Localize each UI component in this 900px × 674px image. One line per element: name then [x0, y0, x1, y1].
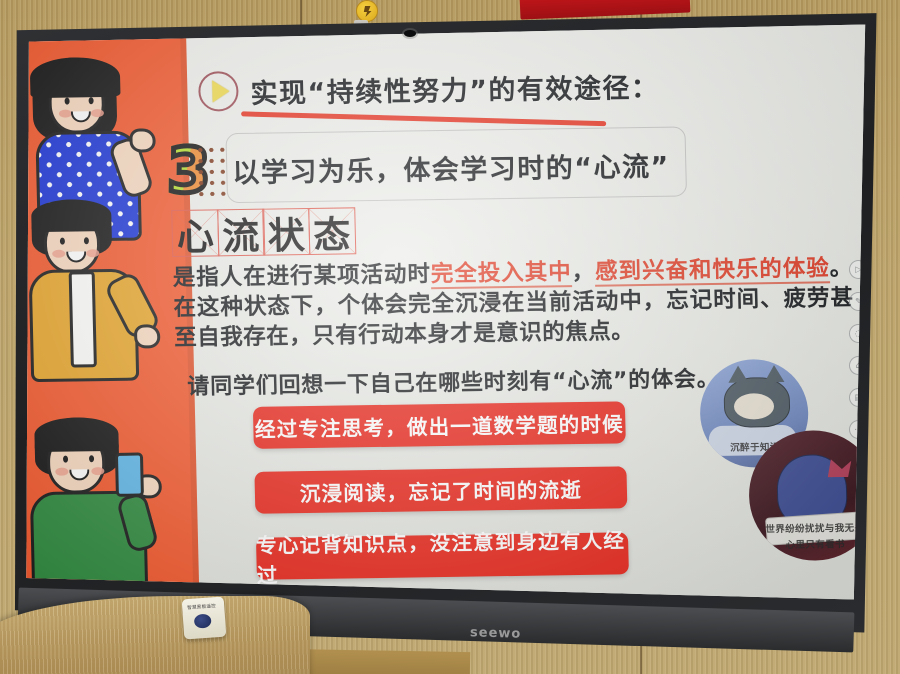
- wall-red-banner: [520, 0, 691, 20]
- flow-heading-char: 心: [171, 209, 219, 257]
- podium: [0, 596, 310, 674]
- section-heading: 以学习为乐，体会学习时的“心流”: [232, 145, 670, 190]
- smartboard-screen[interactable]: 实现“持续性努力”的有效途径： 3 以学习为乐，体会学习时的“心流” 心 流 状…: [8, 8, 880, 642]
- answer-box-2[interactable]: 沉浸阅读，忘记了时间的流逝: [254, 466, 627, 514]
- page-title: 实现“持续性努力”的有效途径：: [250, 65, 660, 110]
- remote-label: 智慧黑板遥控: [187, 603, 216, 611]
- flow-heading-char: 流: [217, 209, 265, 257]
- illustration-panel: [8, 12, 200, 642]
- title-underline: [241, 111, 606, 126]
- discussion-prompt: 请同学们回想一下自己在哪些时刻有“心流”的体会。: [187, 361, 720, 401]
- definition-highlight-2: 感到兴奋和快乐的体验: [595, 255, 830, 286]
- presentation-slide: 实现“持续性努力”的有效途径： 3 以学习为乐，体会学习时的“心流” 心 流 状…: [8, 8, 880, 642]
- answer-box-1[interactable]: 经过专注思考，做出一道数学题的时候: [253, 401, 626, 449]
- definition-comma: ，: [571, 259, 595, 285]
- play-triangle-icon: [198, 71, 239, 112]
- answer-box-3[interactable]: 专心记背知识点，没注意到身边有人经过: [256, 532, 629, 580]
- slide-title-row: 实现“持续性努力”的有效途径：: [198, 65, 660, 112]
- classroom-scene: 实现“持续性努力”的有效途径： 3 以学习为乐，体会学习时的“心流” 心 流 状…: [0, 0, 900, 674]
- flow-definition-paragraph: 是指人在进行某项活动时完全投入其中，感到兴奋和快乐的体验。在这种状态下，个体会完…: [172, 254, 854, 354]
- section-number: 3: [167, 139, 211, 202]
- warning-sticker-icon: [356, 0, 378, 22]
- definition-lead: 是指人在进行某项活动时: [173, 261, 432, 291]
- definition-highlight-1: 完全投入其中: [431, 259, 572, 289]
- board-remote-control[interactable]: 智慧黑板遥控: [182, 597, 227, 640]
- board-camera-icon: [404, 30, 416, 37]
- flow-state-heading: 心 流 状 态: [171, 207, 354, 257]
- flow-heading-char: 态: [308, 207, 356, 255]
- flow-heading-char: 状: [262, 208, 310, 256]
- remote-button[interactable]: [194, 614, 212, 629]
- board-brand-logo: seewo: [470, 625, 522, 641]
